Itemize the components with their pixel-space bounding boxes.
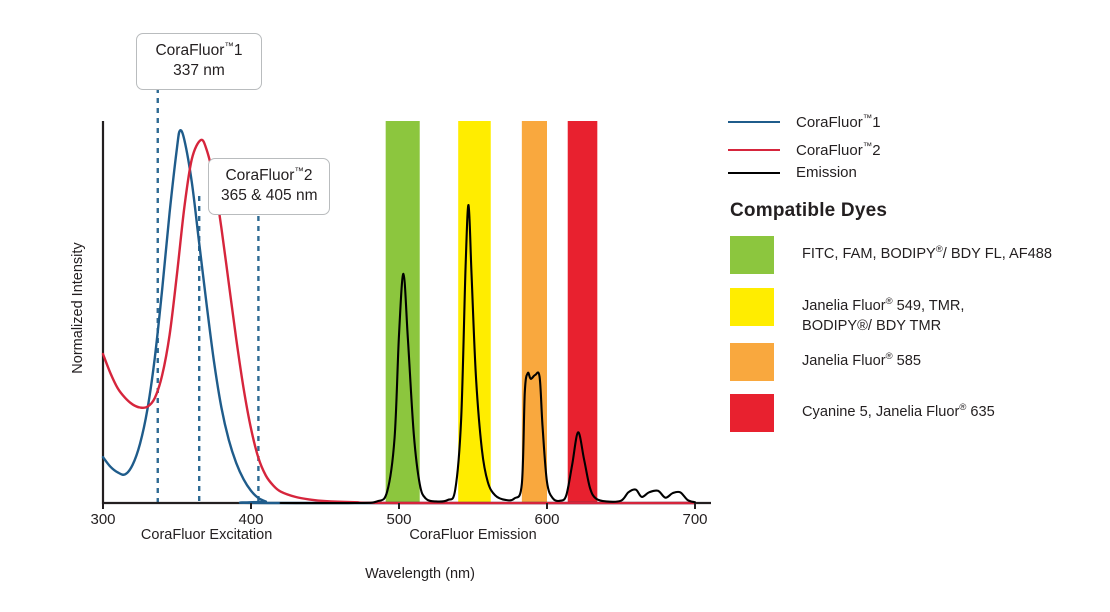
callout-1-line2: 337 nm — [149, 61, 249, 81]
dye-item-janelia-549: Janelia Fluor® 549, TMR,BODIPY®/ BDY TMR — [730, 288, 964, 336]
legend-item-corafluor-2: CoraFluor™2 — [728, 141, 881, 159]
trademark-icon: ™ — [294, 166, 304, 177]
callout-2-line2: 365 & 405 nm — [221, 186, 317, 206]
side-panel: CoraFluor™1 CoraFluor™2 Emission Compati… — [728, 0, 1110, 612]
legend-item-corafluor-1: CoraFluor™1 — [728, 113, 881, 131]
callout-2-index: 2 — [304, 167, 313, 184]
callout-1-line1: CoraFluor™1 — [149, 41, 249, 61]
legend-line-swatch — [728, 172, 780, 174]
callout-2-name: CoraFluor — [225, 167, 294, 184]
dye-item-fitc: FITC, FAM, BODIPY®/ BDY FL, AF488 — [730, 236, 1052, 274]
dye-label: FITC, FAM, BODIPY®/ BDY FL, AF488 — [802, 236, 1052, 265]
trademark-icon: ™ — [863, 141, 873, 152]
callout-2-line1: CoraFluor™2 — [221, 166, 317, 186]
dye-color-swatch — [730, 236, 774, 274]
y-axis-title: Normalized Intensity — [70, 208, 86, 408]
compatible-dyes-title: Compatible Dyes — [730, 200, 887, 222]
dye-color-swatch — [730, 394, 774, 432]
legend-item-emission: Emission — [728, 164, 857, 181]
registered-icon: ® — [936, 244, 943, 255]
callout-corafluor-1: CoraFluor™1 337 nm — [136, 33, 262, 90]
legend-line-swatch — [728, 149, 780, 151]
registered-icon: ® — [886, 351, 893, 362]
trademark-icon: ™ — [863, 113, 873, 124]
legend-label: Emission — [796, 164, 857, 181]
emission-section-label: CoraFluor Emission — [373, 527, 573, 543]
x-tick-600: 600 — [517, 511, 577, 528]
callout-1-name: CoraFluor — [155, 42, 224, 59]
dye-item-cyanine-5: Cyanine 5, Janelia Fluor® 635 — [730, 394, 995, 432]
dye-label: Cyanine 5, Janelia Fluor® 635 — [802, 394, 995, 423]
x-tick-700: 700 — [665, 511, 725, 528]
dye-label-line2: BODIPY®/ BDY TMR — [802, 317, 964, 337]
x-tick-500: 500 — [369, 511, 429, 528]
dye-color-swatch — [730, 343, 774, 381]
plot-area: 300 400 500 600 700 CoraFluor Excitation… — [0, 0, 720, 612]
dye-label: Janelia Fluor® 549, TMR,BODIPY®/ BDY TMR — [802, 288, 964, 336]
dye-label: Janelia Fluor® 585 — [802, 343, 921, 372]
x-tick-300: 300 — [73, 511, 133, 528]
x-axis-title: Wavelength (nm) — [260, 566, 580, 582]
excitation-section-label: CoraFluor Excitation — [107, 527, 307, 543]
callout-corafluor-2: CoraFluor™2 365 & 405 nm — [208, 158, 330, 215]
spectral-band — [458, 121, 491, 503]
dye-item-janelia-585: Janelia Fluor® 585 — [730, 343, 921, 381]
legend-line-swatch — [728, 121, 780, 123]
registered-icon: ® — [959, 402, 966, 413]
fluorescence-spectra-figure: 300 400 500 600 700 CoraFluor Excitation… — [0, 0, 1110, 612]
trademark-icon: ™ — [224, 41, 234, 52]
registered-icon: ® — [886, 296, 893, 307]
x-tick-400: 400 — [221, 511, 281, 528]
legend-label: CoraFluor™1 — [796, 113, 881, 131]
dye-color-swatch — [730, 288, 774, 326]
callout-1-index: 1 — [234, 42, 243, 59]
legend-label: CoraFluor™2 — [796, 141, 881, 159]
